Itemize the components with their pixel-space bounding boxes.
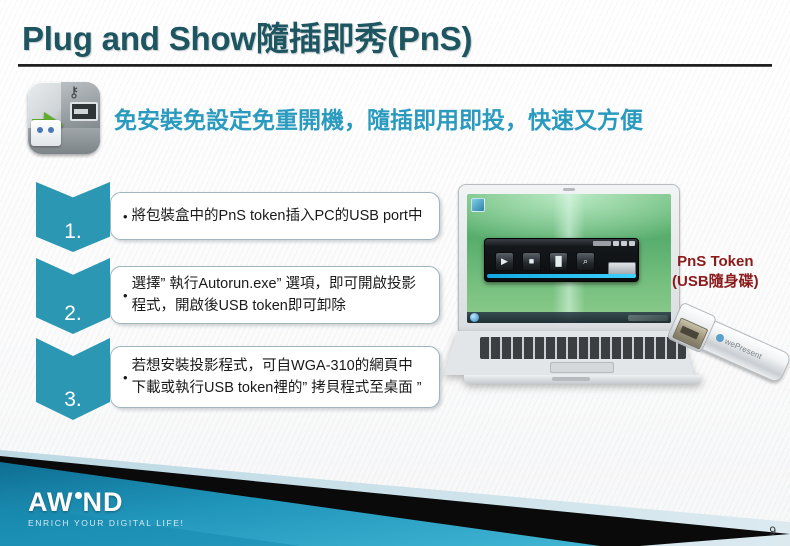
title-divider (18, 64, 772, 67)
taskbar (467, 312, 671, 323)
start-button-icon (470, 313, 479, 322)
media-control-toolbar: ▶ ■ ▐▌ ⌕ (484, 238, 639, 282)
awind-wordmark: AWND (28, 489, 185, 516)
step-row-1: 1. • 將包裝盒中的PnS token插入PC的USB port中 (36, 182, 440, 252)
step-number-badge-3: 3. (36, 338, 110, 420)
laptop-lid: ▶ ■ ▐▌ ⌕ (458, 184, 680, 332)
stop-button: ■ (522, 252, 541, 271)
minimize-icon (613, 241, 619, 246)
pause-button: ▐▌ (549, 252, 568, 271)
slide-canvas: Plug and Show隨插即秀(PnS) ⚷ 免安裝免設定免重開機，隨插即用… (0, 0, 790, 546)
step-row-2: 2. • 選擇” 執行Autorun.exe” 選項，即可開啟投影程式，開啟後U… (36, 258, 440, 334)
wepresent-brand-label: wePresent (714, 333, 763, 361)
bullet-icon: • (123, 289, 128, 302)
step-text-box-1: • 將包裝盒中的PnS token插入PC的USB port中 (110, 192, 440, 240)
step-number-3: 3. (64, 388, 82, 412)
page-number: 9 (769, 524, 776, 538)
bullet-icon: • (123, 210, 128, 223)
step-number-badge-2: 2. (36, 258, 110, 334)
player-logo-icon (593, 241, 611, 246)
usb-symbol-icon: ⚷ (66, 85, 82, 101)
bullet-icon: • (123, 371, 128, 384)
laptop-keyboard (480, 337, 686, 359)
player-button-group: ▶ ■ ▐▌ ⌕ (495, 252, 595, 271)
laptop-front-edge (464, 375, 702, 384)
subtitle-row: ⚷ 免安裝免設定免重開機，隨插即用即投，快速又方便 (28, 82, 643, 154)
close-icon (629, 241, 635, 246)
usb-connector-icon (672, 317, 708, 349)
token-label-line1: PnS Token (672, 252, 759, 272)
step-text-1: 將包裝盒中的PnS token插入PC的USB port中 (132, 205, 423, 227)
zoom-button: ⌕ (576, 252, 595, 271)
laptop-screen: ▶ ■ ▐▌ ⌕ (467, 194, 671, 323)
step-row-3: 3. • 若想安裝投影程式，可自WGA-310的網頁中下載或執行USB toke… (36, 338, 440, 420)
step-text-box-2: • 選擇” 執行Autorun.exe” 選項，即可開啟投影程式，開啟後USB … (110, 266, 440, 324)
token-label-line2: (USB隨身碟) (672, 272, 759, 292)
step-number-badge-1: 1. (36, 182, 110, 252)
step-number-2: 2. (64, 302, 82, 326)
wepresent-brand-text: wePresent (723, 337, 763, 361)
system-tray (628, 315, 668, 321)
awind-tagline: ENRICH YOUR DIGITAL LIFE! (28, 518, 185, 528)
laptop-trackpad (550, 362, 614, 373)
player-accent-strip (487, 274, 636, 278)
page-title: Plug and Show隨插即秀(PnS) (22, 12, 472, 60)
footer-graphic: AWND ENRICH YOUR DIGITAL LIFE! (0, 426, 790, 546)
step-text-3: 若想安裝投影程式，可自WGA-310的網頁中下載或執行USB token裡的” … (132, 355, 425, 400)
step-number-1: 1. (64, 220, 82, 244)
step-text-box-3: • 若想安裝投影程式，可自WGA-310的網頁中下載或執行USB token裡的… (110, 346, 440, 408)
desktop-shortcut-icon (471, 198, 485, 212)
step-text-2: 選擇” 執行Autorun.exe” 選項，即可開啟投影程式，開啟後USB to… (132, 273, 425, 318)
usb-plug-into-port-icon: ⚷ (28, 82, 100, 154)
awind-logo: AWND ENRICH YOUR DIGITAL LIFE! (28, 489, 185, 528)
token-callout-label: PnS Token (USB隨身碟) (672, 252, 759, 293)
subtitle-text: 免安裝免設定免重開機，隨插即用即投，快速又方便 (114, 101, 643, 135)
play-button: ▶ (495, 252, 514, 271)
webcam-icon (563, 188, 575, 191)
player-titlebar (593, 241, 635, 246)
maximize-icon (621, 241, 627, 246)
